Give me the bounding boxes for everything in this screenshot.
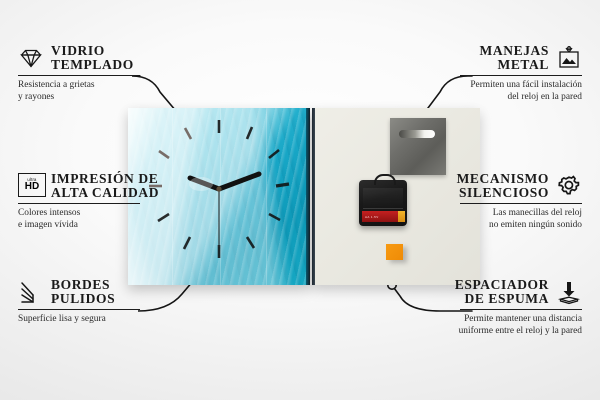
feature-title-line1: MECANISMO xyxy=(457,172,549,186)
feature-title-line1: IMPRESIÓN DE xyxy=(51,172,159,186)
feature-high-quality-print: ultra HD IMPRESIÓN DE ALTA CALIDAD Color… xyxy=(18,172,250,231)
feature-rule xyxy=(18,203,140,204)
infographic-canvas: AA 1.5V VIDRIO TEMPLADO Resistencia a gr… xyxy=(0,0,600,400)
feature-title-line2: PULIDOS xyxy=(51,292,115,306)
feature-subtitle-line1: Superficie lisa y segura xyxy=(18,314,250,325)
foam-spacer xyxy=(386,244,403,260)
feature-rule xyxy=(18,75,140,76)
feature-subtitle-line2: e imagen vívida xyxy=(18,220,250,231)
feature-subtitle-line1: Resistencia a grietas xyxy=(18,80,250,91)
gear-icon xyxy=(556,173,582,199)
feature-title-line2: DE ESPUMA xyxy=(455,292,549,306)
feature-title-line1: ESPACIADOR xyxy=(455,278,549,292)
feature-rule xyxy=(460,203,582,204)
polished-edges-icon xyxy=(18,279,44,305)
hanger-slot xyxy=(399,130,435,138)
feature-subtitle-line2: uniforme entre el reloj y la pared xyxy=(350,326,582,337)
feature-title-line2: SILENCIOSO xyxy=(457,186,549,200)
wall-hook-frame-icon xyxy=(556,45,582,71)
feature-subtitle-line2: no emiten ningún sonido xyxy=(350,220,582,231)
feature-tempered-glass: VIDRIO TEMPLADO Resistencia a grietas y … xyxy=(18,44,250,103)
feature-metal-handles: MANEJAS METAL Permiten una fácil instala… xyxy=(350,44,582,103)
feature-subtitle-line1: Las manecillas del reloj xyxy=(350,208,582,219)
feature-rule xyxy=(460,309,582,310)
feature-subtitle-line2: del reloj en la pared xyxy=(350,92,582,103)
feature-foam-spacer: ESPACIADOR DE ESPUMA Permite mantener un… xyxy=(350,278,582,337)
feature-title-line2: ALTA CALIDAD xyxy=(51,186,159,200)
feature-rule xyxy=(18,309,140,310)
feature-polished-edges: BORDES PULIDOS Superficie lisa y segura xyxy=(18,278,250,326)
feature-subtitle-line1: Permiten una fácil instalación xyxy=(350,80,582,91)
feature-subtitle-line2: y rayones xyxy=(18,92,250,103)
feature-title-line2: TEMPLADO xyxy=(51,58,134,72)
feature-silent-mechanism: MECANISMO SILENCIOSO Las manecillas del … xyxy=(350,172,582,231)
ultra-hd-icon: ultra HD xyxy=(18,173,44,199)
ultra-hd-icon-main: HD xyxy=(25,182,39,192)
feature-title-line2: METAL xyxy=(480,58,549,72)
feature-subtitle-line1: Colores intensos xyxy=(18,208,250,219)
feature-title-line1: VIDRIO xyxy=(51,44,134,58)
down-arrow-pad-icon xyxy=(556,279,582,305)
feature-title-line1: MANEJAS xyxy=(480,44,549,58)
feature-title-line1: BORDES xyxy=(51,278,115,292)
feature-rule xyxy=(460,75,582,76)
diamond-icon xyxy=(18,45,44,71)
feature-subtitle-line1: Permite mantener una distancia xyxy=(350,314,582,325)
metal-hanger-plate xyxy=(390,118,446,175)
